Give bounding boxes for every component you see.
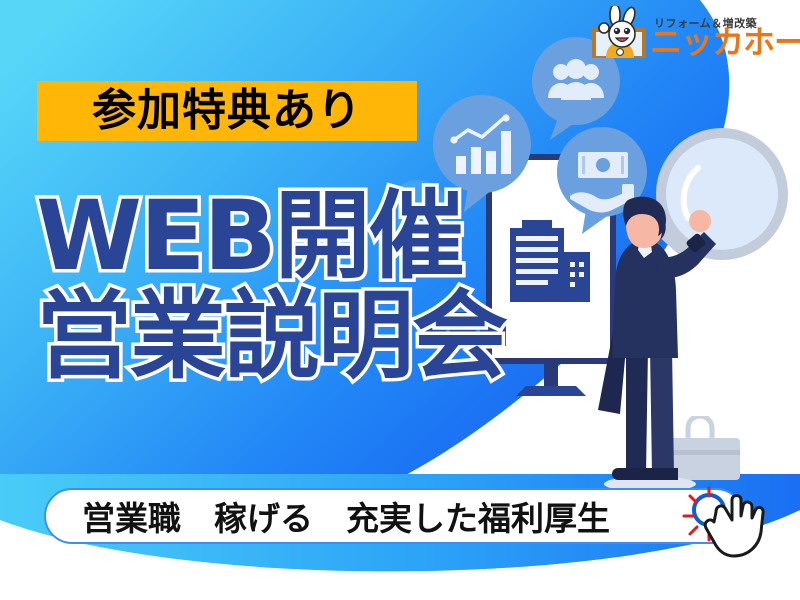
hand-click-cursor-icon[interactable]	[676, 484, 780, 562]
keywords-pill-label: 営業職 稼げる 充実した福利厚生	[82, 492, 610, 540]
rabbit-mascot-icon	[586, 6, 652, 60]
brand-name: ニッカホーム	[650, 26, 800, 58]
benefit-badge: 参加特典あり	[37, 81, 417, 141]
headline-line-1: WEB開催	[36, 190, 636, 282]
page-title: WEB開催 営業説明会	[36, 190, 636, 382]
pointer-hand-icon	[705, 496, 763, 557]
benefit-badge-label: 参加特典あり	[92, 89, 362, 133]
headline-line-2: 営業説明会	[36, 290, 636, 382]
brand-logo: リフォーム＆増改築 ニッカホーム	[586, 6, 798, 62]
poster-root: 参加特典あり WEB開催 営業説明会 営業職 稼げる 充実した福利厚生	[0, 0, 800, 600]
keywords-pill[interactable]: 営業職 稼げる 充実した福利厚生	[44, 488, 744, 544]
